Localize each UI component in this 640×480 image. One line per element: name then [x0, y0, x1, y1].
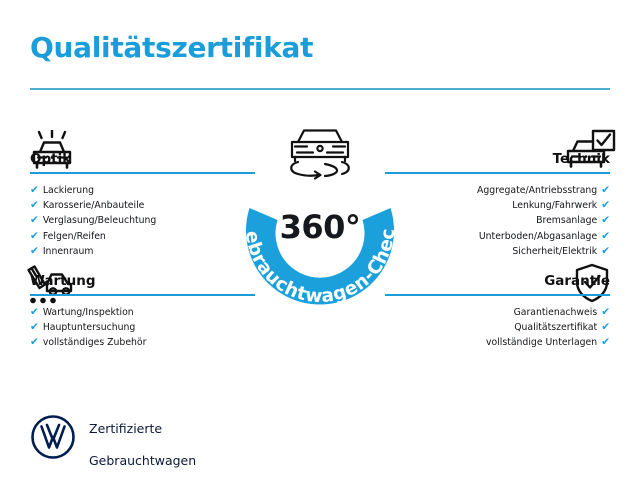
list-item: Lenkung/Fahrwerk✔ [385, 198, 610, 213]
section-technik: Technik Aggregate/Antriebsstrang✔ Lenkun… [385, 150, 610, 259]
footer-brand: Zertifizierte Gebrauchtwagen [30, 405, 196, 469]
check-icon: ✔ [601, 213, 610, 228]
check-icon: ✔ [30, 244, 39, 259]
list-item-label: Lackierung [43, 185, 94, 196]
check-icon: ✔ [30, 335, 39, 350]
list-item: Aggregate/Antriebsstrang✔ [385, 183, 610, 198]
section-heading-technik: Technik [385, 150, 610, 168]
checklist-garantie: Garantienachweis✔ Qualitätszertifikat✔ v… [385, 305, 610, 351]
list-item-label: Bremsanlage [536, 215, 597, 226]
list-item-label: Karosserie/Anbauteile [43, 200, 145, 211]
list-item-label: Innenraum [43, 246, 94, 257]
section-garantie: Garantie Garantienachweis✔ Qualitätszert… [385, 272, 610, 351]
list-item: Sicherheit/Elektrik✔ [385, 244, 610, 259]
list-item: vollständige Unterlagen✔ [385, 335, 610, 350]
section-heading-garantie: Garantie [385, 272, 610, 290]
section-divider-garantie [385, 294, 610, 296]
check-icon: ✔ [601, 198, 610, 213]
list-item: ✔vollständiges Zubehör [30, 335, 255, 350]
list-item-label: Lenkung/Fahrwerk [512, 200, 597, 211]
list-item-label: Garantienachweis [514, 307, 598, 318]
check-icon: ✔ [601, 335, 610, 350]
badge-center-label: 360° [222, 208, 418, 246]
list-item-label: Hauptuntersuchung [43, 322, 136, 333]
check-icon: ✔ [601, 244, 610, 259]
list-item: ✔Hauptuntersuchung [30, 320, 255, 335]
list-item-label: Wartung/Inspektion [43, 307, 134, 318]
check-icon: ✔ [30, 305, 39, 320]
section-divider-technik [385, 172, 610, 174]
list-item-label: Qualitätszertifikat [514, 322, 597, 333]
footer-line-1: Zertifizierte [89, 421, 162, 436]
list-item: Qualitätszertifikat✔ [385, 320, 610, 335]
list-item-label: Unterboden/Abgasanlage [479, 231, 597, 242]
list-item: Bremsanlage✔ [385, 213, 610, 228]
check-icon: ✔ [30, 198, 39, 213]
list-item-label: Sicherheit/Elektrik [512, 246, 597, 257]
check-icon: ✔ [601, 183, 610, 198]
check-icon: ✔ [601, 320, 610, 335]
list-item-label: vollständige Unterlagen [486, 337, 597, 348]
check-icon: ✔ [601, 305, 610, 320]
page-title: Qualitätszertifikat [30, 31, 313, 64]
check-icon: ✔ [30, 183, 39, 198]
list-item: Garantienachweis✔ [385, 305, 610, 320]
list-item-label: vollständiges Zubehör [43, 337, 147, 348]
checklist-technik: Aggregate/Antriebsstrang✔ Lenkung/Fahrwe… [385, 183, 610, 259]
list-item-label: Aggregate/Antriebsstrang [477, 185, 597, 196]
check-icon: ✔ [30, 213, 39, 228]
check-icon: ✔ [30, 229, 39, 244]
list-item-label: Verglasung/Beleuchtung [43, 215, 157, 226]
check-icon: ✔ [30, 320, 39, 335]
list-item-label: Felgen/Reifen [43, 231, 106, 242]
check-icon: ✔ [601, 229, 610, 244]
title-divider [30, 88, 610, 90]
footer-line-2: Gebrauchtwagen [89, 453, 196, 468]
list-item: Unterboden/Abgasanlage✔ [385, 229, 610, 244]
car-rotate-360-icon [281, 124, 359, 182]
footer-label: Zertifizierte Gebrauchtwagen [89, 405, 196, 469]
volkswagen-logo [30, 414, 76, 460]
